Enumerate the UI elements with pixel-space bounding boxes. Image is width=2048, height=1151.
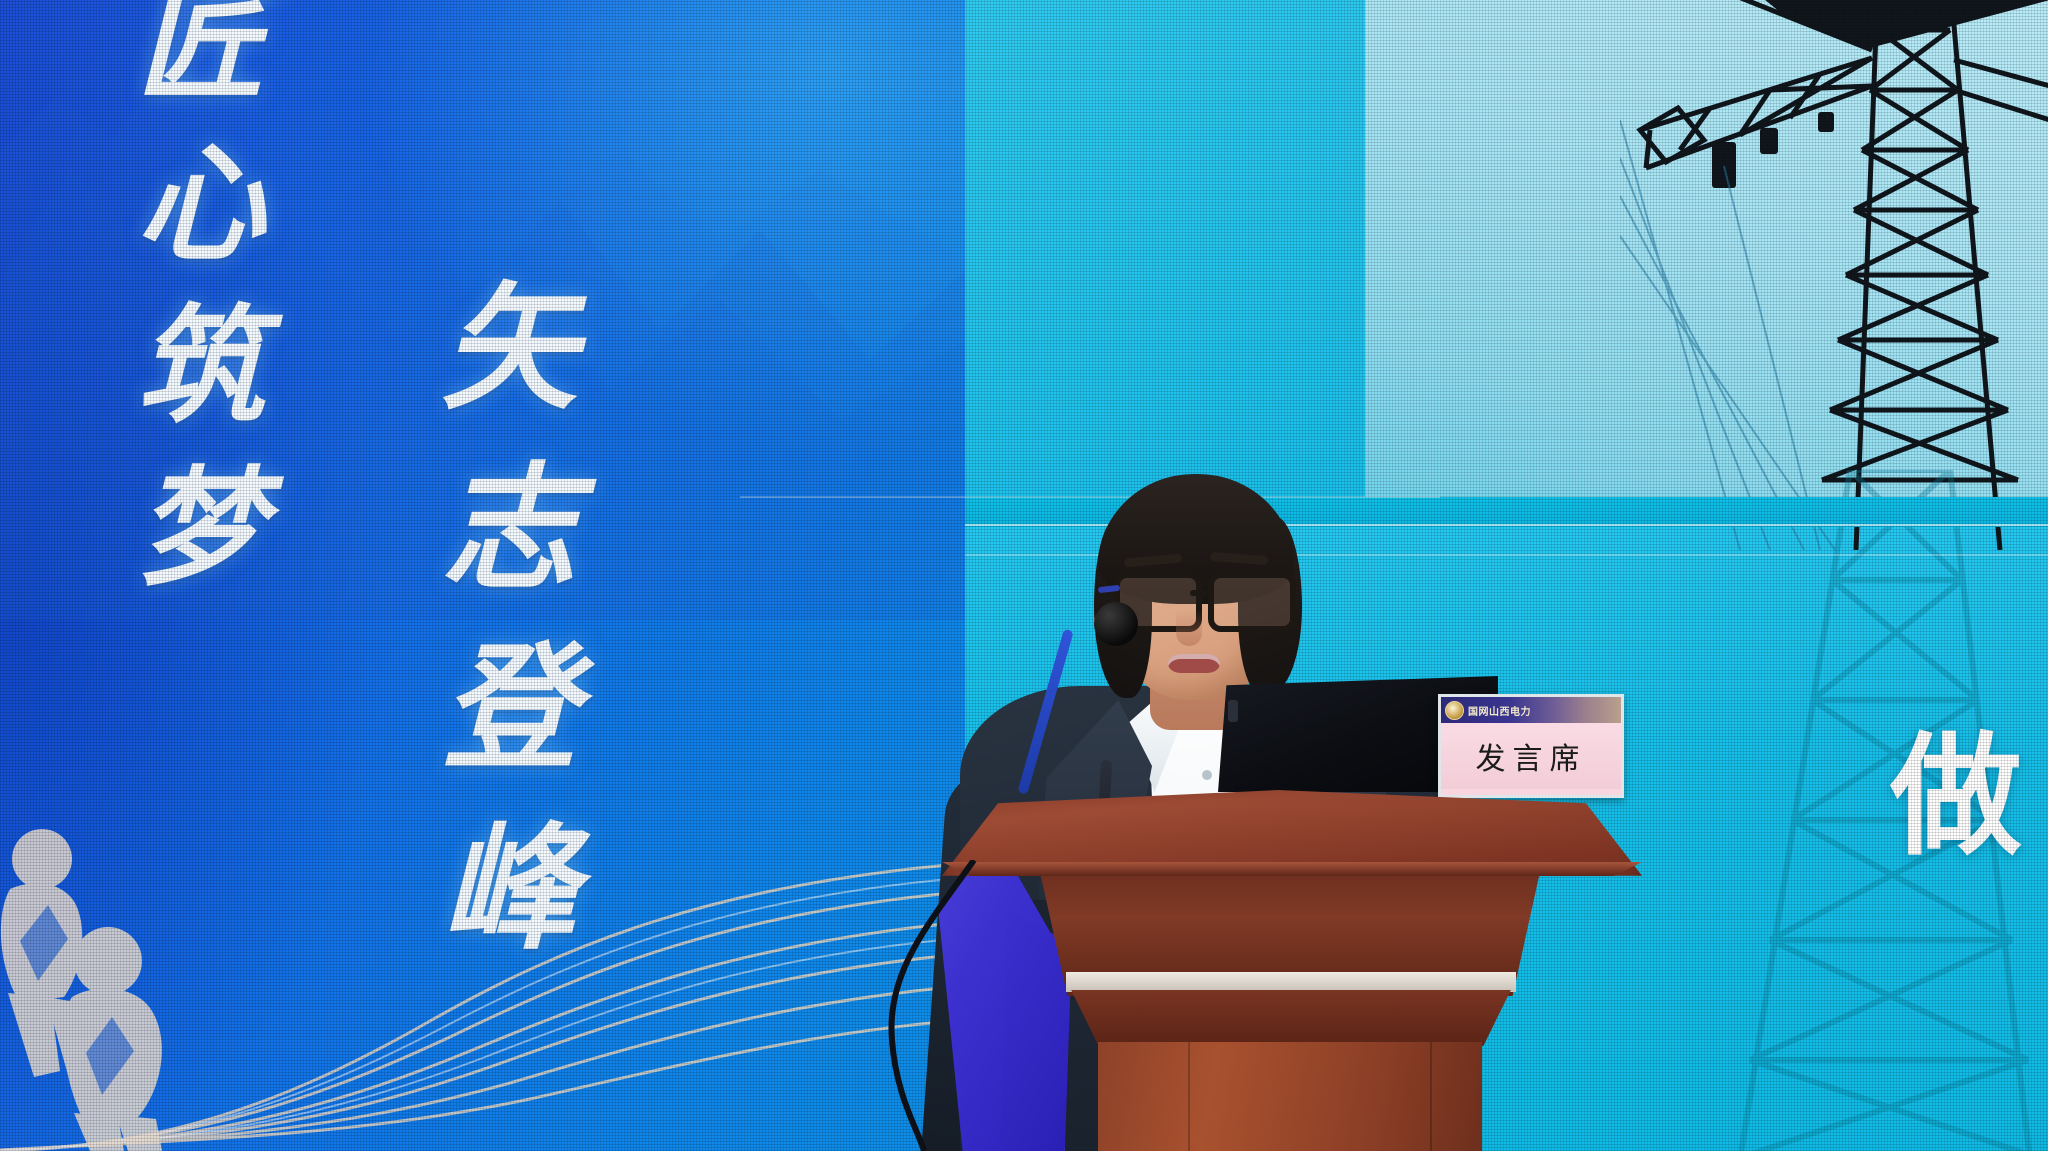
organization-logo-icon <box>1445 701 1464 720</box>
screenshot-stage: 匠心筑梦 矢志登峰 做 <box>0 0 2048 1151</box>
name-plate-header: 国网山西电力 <box>1441 697 1621 723</box>
backdrop-cyan-mid-block <box>965 0 1385 500</box>
transmission-tower-icon <box>1620 0 2048 550</box>
podium-lower-section <box>1062 990 1520 1046</box>
name-plate-text: 发言席 <box>1476 734 1587 778</box>
podium-accent-band <box>1066 972 1516 992</box>
podium-base-seam <box>1188 1042 1190 1151</box>
name-plate: 国网山西电力 发言席 <box>1438 694 1624 798</box>
microphone-icon <box>1094 602 1138 646</box>
backdrop-calligraphy-line-2: 矢志登峰 <box>398 276 595 996</box>
glasses-bridge <box>1190 590 1208 596</box>
microphone-cable <box>862 860 982 1151</box>
backdrop-calligraphy-line-1: 匠心筑梦 <box>96 0 281 622</box>
backdrop-right-slogan: 做 <box>1890 690 2028 881</box>
speaker-mouth <box>1168 654 1220 673</box>
name-plate-body: 发言席 <box>1441 723 1621 789</box>
glasses-lens-right <box>1208 572 1296 632</box>
name-plate-organization: 国网山西电力 <box>1468 703 1531 718</box>
podium-lectern <box>930 790 1650 1151</box>
laptop-hinge <box>1228 700 1238 722</box>
podium-top-edge <box>942 862 1642 876</box>
podium-base-seam <box>1430 1042 1432 1151</box>
speaker-nose <box>1176 610 1202 646</box>
climber-silhouette-icon <box>0 821 250 1151</box>
shirt-button <box>1202 770 1212 780</box>
podium-base <box>1098 1042 1482 1151</box>
